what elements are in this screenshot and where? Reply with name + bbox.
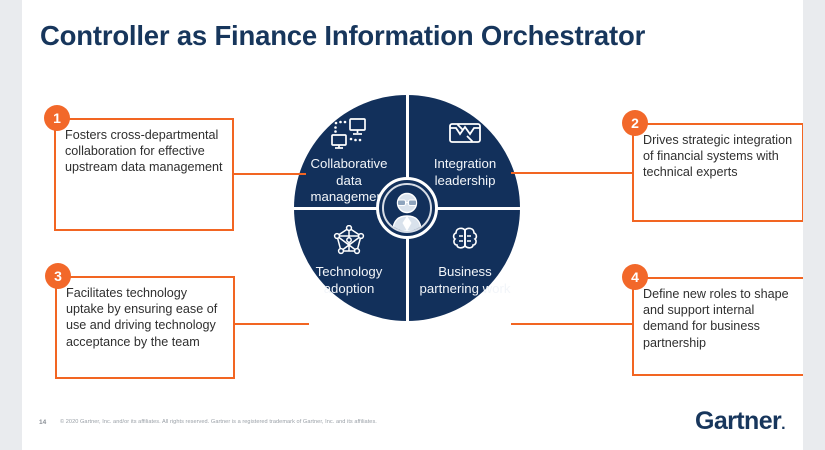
connector-line-2 bbox=[511, 172, 633, 174]
callout-badge-3: 3 bbox=[45, 263, 71, 289]
callout-badge-1: 1 bbox=[44, 105, 70, 131]
callout-badge-4: 4 bbox=[622, 264, 648, 290]
slide-viewport: Controller as Finance Information Orches… bbox=[0, 0, 825, 450]
wheel-quadrant-label: Technology adoption bbox=[297, 264, 401, 297]
gartner-logo: Gartner. bbox=[695, 407, 785, 436]
callout-text: Drives strategic integration of financia… bbox=[634, 125, 802, 188]
callout-box-1[interactable]: Fosters cross-departmental collaboration… bbox=[54, 118, 234, 231]
wheel-quadrant-business[interactable]: Business partnering work bbox=[413, 225, 517, 297]
connector-line-1 bbox=[234, 173, 306, 175]
footer-copyright: © 2020 Gartner, Inc. and/or its affiliat… bbox=[60, 419, 377, 425]
callout-text: Fosters cross-departmental collaboration… bbox=[56, 120, 232, 183]
callout-box-4[interactable]: Define new roles to shape and support in… bbox=[632, 277, 803, 376]
callout-badge-2: 2 bbox=[622, 110, 648, 136]
network-computers-icon bbox=[297, 117, 401, 151]
wheel-quadrant-label: Business partnering work bbox=[413, 264, 517, 297]
callout-box-3[interactable]: Facilitates technology uptake by ensurin… bbox=[55, 276, 235, 379]
page-title: Controller as Finance Information Orches… bbox=[40, 20, 770, 52]
wheel-center-hub bbox=[376, 177, 438, 239]
handshake-icon bbox=[413, 117, 517, 151]
wheel-quadrant-technology[interactable]: Technology adoption bbox=[297, 225, 401, 297]
gartner-logo-text: Gartner bbox=[695, 407, 781, 435]
callout-box-2[interactable]: Drives strategic integration of financia… bbox=[632, 123, 803, 222]
connector-line-3 bbox=[235, 323, 309, 325]
gartner-logo-mark: . bbox=[781, 416, 785, 433]
connector-line-4 bbox=[511, 323, 633, 325]
callout-text: Facilitates technology uptake by ensurin… bbox=[57, 278, 233, 357]
presentation-slide: Controller as Finance Information Orches… bbox=[22, 0, 803, 450]
wheel-quadrant-label: Integration leadership bbox=[413, 156, 517, 189]
wheel-quadrant-integration[interactable]: Integration leadership bbox=[413, 117, 517, 189]
person-with-glasses-icon bbox=[382, 183, 432, 233]
orchestrator-wheel: Collaborative data management Integratio… bbox=[294, 95, 520, 321]
callout-text: Define new roles to shape and support in… bbox=[634, 279, 803, 358]
footer-page-number: 14 bbox=[39, 419, 46, 426]
